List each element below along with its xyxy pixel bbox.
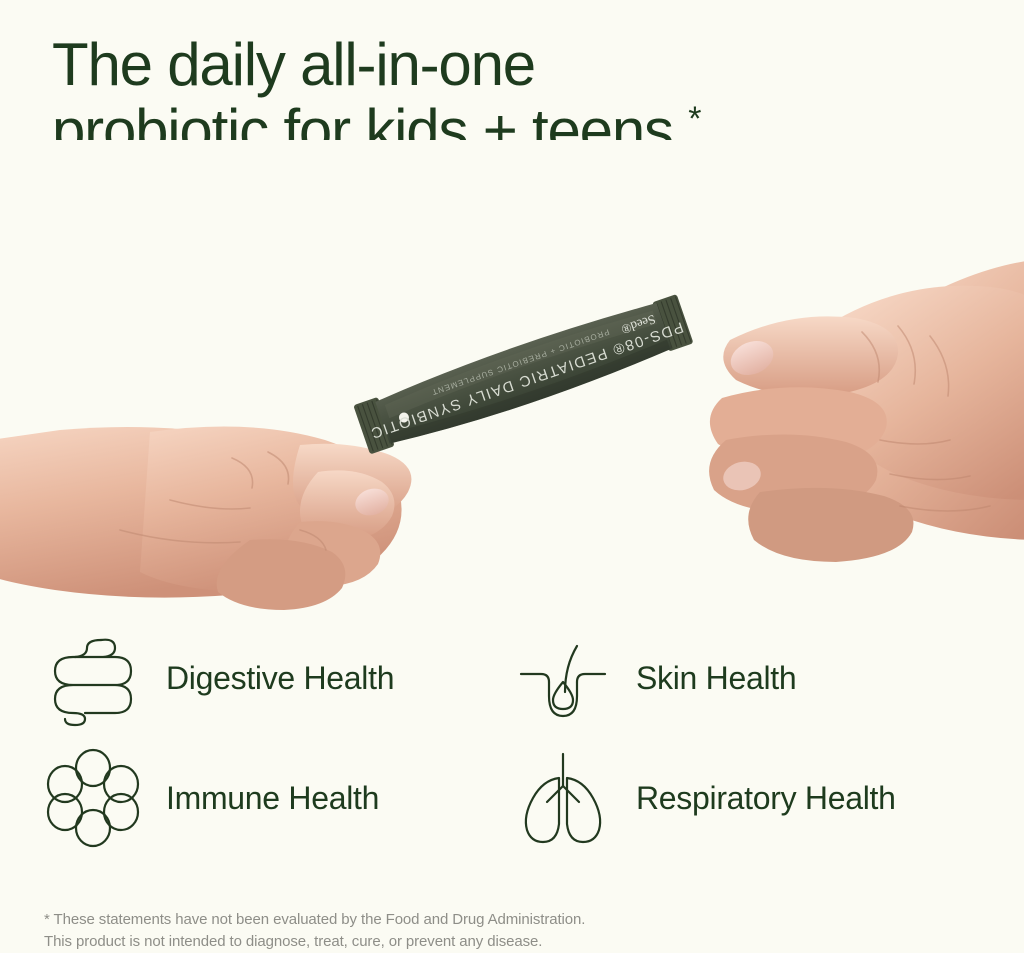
hair-follicle-icon (510, 626, 616, 730)
benefit-item-respiratory-health: Respiratory Health (510, 738, 980, 858)
product-hero-page: The daily all-in-one probiotic for kids … (0, 0, 1024, 939)
headline-line-1: The daily all-in-one (52, 31, 535, 98)
product-photo: Two hands holding a dark green Seed PDS-… (0, 140, 1024, 610)
cell-cluster-icon (40, 746, 146, 850)
benefit-label-digestive-health: Digestive Health (166, 660, 394, 696)
benefit-item-immune-health: Immune Health (40, 738, 510, 858)
benefit-label-respiratory-health: Respiratory Health (636, 780, 896, 816)
benefit-label-immune-health: Immune Health (166, 780, 379, 816)
benefit-item-digestive-health: Digestive Health (40, 618, 510, 738)
fda-disclaimer: * These statements have not been evaluat… (44, 909, 585, 953)
lungs-icon (510, 746, 616, 850)
headline-asterisk: * (688, 100, 700, 138)
benefit-item-skin-health: Skin Health (510, 618, 980, 738)
intestine-icon (40, 626, 146, 730)
benefit-label-skin-health: Skin Health (636, 660, 796, 696)
left-hand (0, 427, 411, 610)
benefits-grid: Digestive Health Skin Health (40, 618, 990, 858)
